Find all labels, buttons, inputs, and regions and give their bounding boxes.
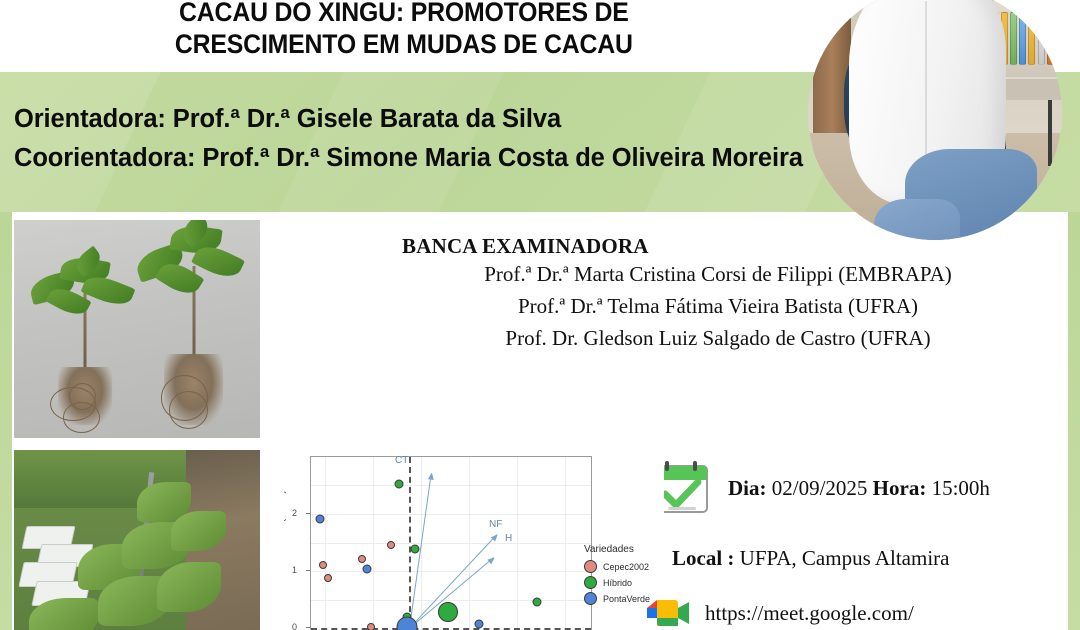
chart-origin-vline: [409, 457, 411, 630]
researcher-portrait-photo: [808, 0, 1062, 240]
banca-member-3: Prof. Dr. Gledson Luiz Salgado de Castro…: [382, 323, 1054, 355]
chart-legend-item-cepec2002[interactable]: Cepec2002: [584, 560, 650, 573]
poster-title-line-2: CRESCIMENTO EM MUDAS DE CACAU: [175, 29, 633, 61]
chart-legend-item-pontaverde[interactable]: PontaVerde: [584, 592, 650, 605]
chart-point-hibrido-centroid: [438, 602, 458, 622]
chart-legend-item-hibrido[interactable]: Híbrido: [584, 576, 650, 589]
chart-plot-panel: CT NF H: [310, 456, 592, 630]
legend-swatch-cepec2002: [584, 560, 597, 573]
chart-y-axis-label: PCA2 (17.0%): [284, 490, 286, 548]
chart-legend-title: Variedades: [584, 544, 650, 555]
chart-point-cepec2002: [358, 555, 366, 563]
banca-member-1: Prof.ª Dr.ª Marta Cristina Corsi de Fili…: [382, 259, 1054, 291]
chart-vector-label-NF: NF: [489, 519, 502, 530]
chart-vector-label-CT: CT: [395, 455, 408, 466]
dia-value: 02/09/2025: [772, 476, 868, 500]
event-location: Local : UFPA, Campus Altamira: [672, 546, 1072, 571]
chart-point-cepec2002: [324, 574, 332, 582]
legend-label-hibrido: Híbrido: [603, 578, 632, 588]
local-label: Local :: [672, 546, 734, 570]
poster-root: CACAU DO XINGU: PROMOTORES DE CRESCIMENT…: [0, 0, 1080, 630]
chart-point-pontaverde: [363, 565, 372, 574]
hora-value: 15:00h: [932, 476, 990, 500]
chart-point-pontaverde-centroid: [397, 617, 418, 630]
chart-legend: Variedades Cepec2002 Híbrido PontaVerde: [584, 544, 650, 608]
legend-label-cepec2002: Cepec2002: [603, 562, 649, 572]
meet-url-text[interactable]: https://meet.google.com/: [705, 601, 914, 626]
left-green-rail: [0, 212, 12, 630]
hora-label: Hora:: [873, 476, 927, 500]
chart-point-pontaverde: [316, 515, 325, 524]
chart-point-hibrido: [411, 545, 420, 554]
chart-point-cepec2002: [387, 541, 395, 549]
chart-point-cepec2002: [367, 623, 375, 630]
cacao-nursery-photo: [14, 450, 260, 630]
poster-title: CACAU DO XINGU: PROMOTORES DE CRESCIMENT…: [175, 0, 633, 61]
chart-y-tick-1: 1: [292, 565, 297, 575]
cacao-seedlings-photo: [14, 220, 260, 438]
chart-y-tick-0: 0: [292, 622, 297, 630]
legend-swatch-pontaverde: [584, 592, 597, 605]
event-details-block: Dia: 02/09/2025 Hora: 15:00h Local : UFP…: [652, 460, 1072, 571]
event-datetime: Dia: 02/09/2025 Hora: 15:00h: [728, 476, 990, 501]
pca-biplot-chart: PCA2 (17.0%) 0 1 2: [284, 452, 664, 630]
chart-point-hibrido: [395, 480, 404, 489]
title-container: CACAU DO XINGU: PROMOTORES DE CRESCIMENT…: [0, 0, 808, 72]
banca-member-2: Prof.ª Dr.ª Telma Fátima Vieira Batista …: [382, 291, 1054, 323]
chart-y-tick-2: 2: [292, 508, 297, 518]
chart-point-hibrido: [533, 598, 542, 607]
content-area: BANCA EXAMINADORA Prof.ª Dr.ª Marta Cris…: [12, 212, 1068, 630]
poster-title-line-1: CACAU DO XINGU: PROMOTORES DE: [175, 0, 633, 29]
chart-vector-label-H: H: [505, 533, 512, 544]
meet-link-row[interactable]: https://meet.google.com/: [645, 598, 914, 628]
local-value: UFPA, Campus Altamira: [740, 546, 950, 570]
banca-examinadora-block: BANCA EXAMINADORA Prof.ª Dr.ª Marta Cris…: [382, 234, 1054, 355]
chart-point-cepec2002: [319, 561, 327, 569]
chart-point-pontaverde: [475, 620, 484, 629]
google-meet-icon: [645, 598, 691, 628]
dia-label: Dia:: [728, 476, 767, 500]
legend-label-pontaverde: PontaVerde: [603, 594, 650, 604]
legend-swatch-hibrido: [584, 576, 597, 589]
